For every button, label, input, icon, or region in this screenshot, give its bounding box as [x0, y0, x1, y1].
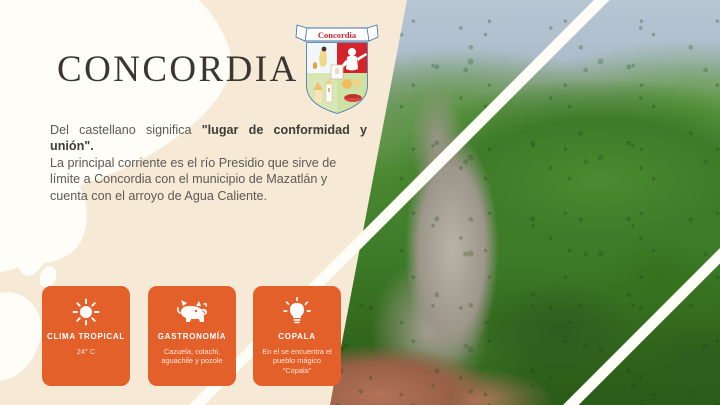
feature-card-subtitle: En el se encuentra el pueblo mágico "Cop…: [253, 347, 341, 375]
feature-card-subtitle: 24° C: [72, 347, 101, 356]
feature-card-title: COPALA: [278, 332, 315, 342]
feature-card-clima[interactable]: CLIMA TROPICAL 24° C: [42, 286, 130, 386]
body-text: Del castellano significa "lugar de confo…: [50, 122, 367, 204]
lightbulb-icon: [282, 295, 312, 329]
sun-icon: [71, 295, 101, 329]
body-paragraph-1-lead: Del castellano significa: [50, 123, 202, 137]
feature-card-title: GASTRONOMÍA: [158, 332, 227, 342]
presentation-slide: CONCORDIA Concordia: [0, 0, 720, 405]
body-paragraph-2: La principal corriente es el río Presidi…: [50, 155, 367, 204]
body-paragraph-1: Del castellano significa "lugar de confo…: [50, 122, 367, 155]
page-title: CONCORDIA: [57, 48, 299, 91]
feature-card-title: CLIMA TROPICAL: [47, 332, 125, 342]
feature-card-copala[interactable]: COPALA En el se encuentra el pueblo mági…: [253, 286, 341, 386]
concordia-coat-of-arms: Concordia: [295, 12, 379, 116]
crest-banner-text: Concordia: [318, 30, 357, 40]
feature-card-gastronomia[interactable]: GASTRONOMÍA Cazuela, colachi, aguachile …: [148, 286, 236, 386]
pig-icon: [175, 295, 209, 329]
feature-card-subtitle: Cazuela, colachi, aguachile y pozole: [148, 347, 236, 366]
